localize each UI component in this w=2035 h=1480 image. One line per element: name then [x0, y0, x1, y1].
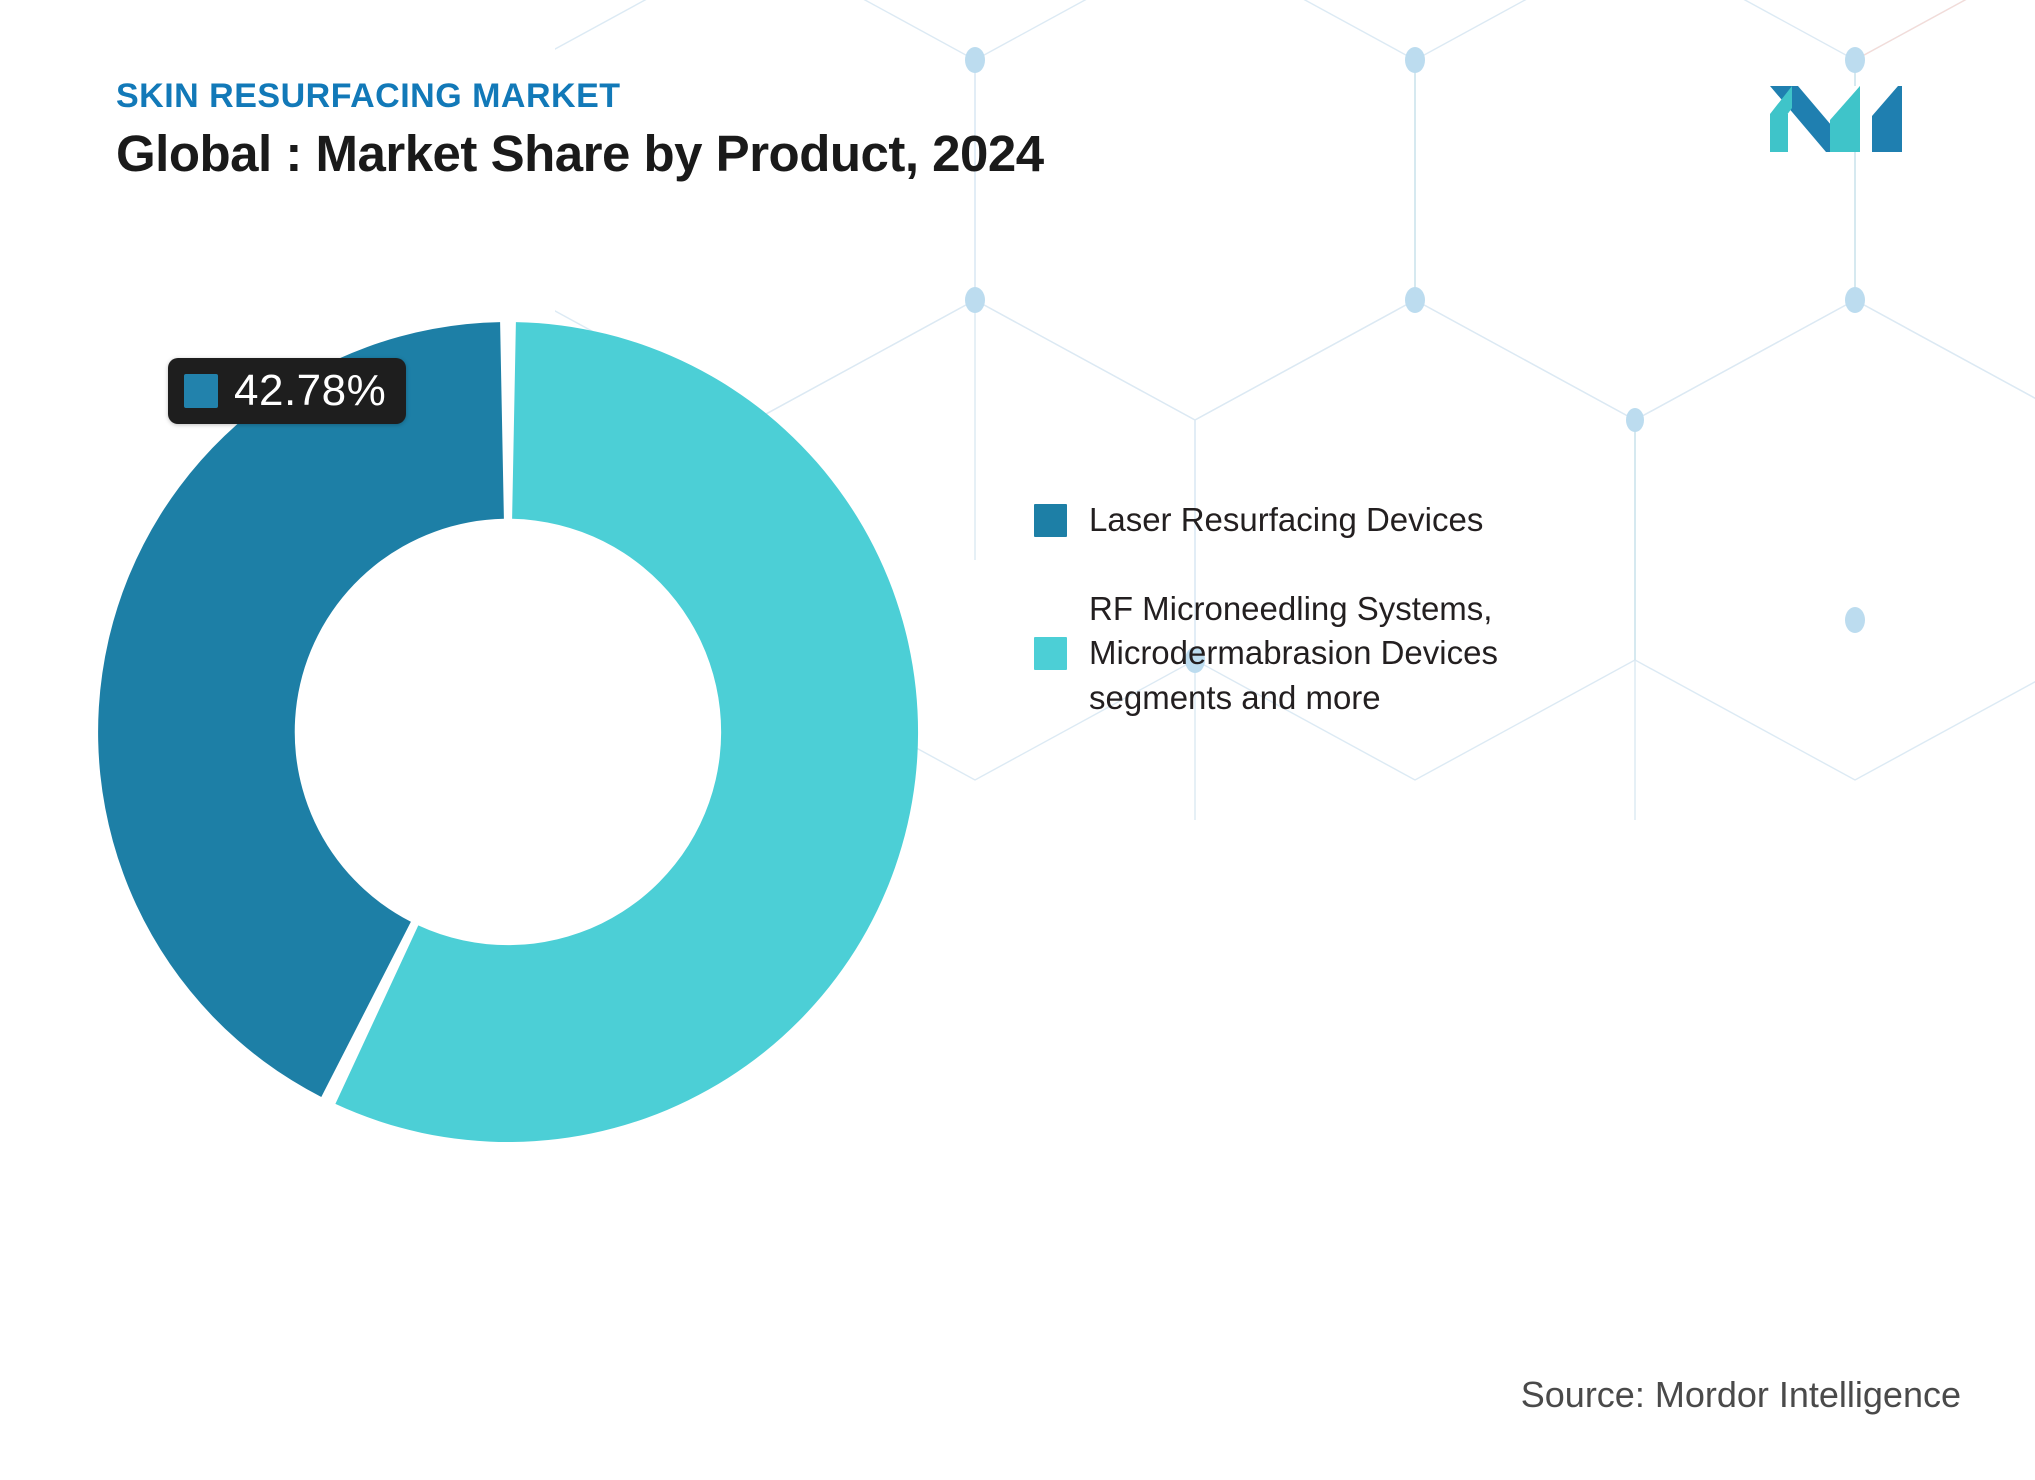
chart-legend: Laser Resurfacing Devices RF Microneedli… — [1034, 498, 1794, 720]
tooltip-value-text: 42.78% — [234, 369, 386, 413]
legend-swatch-rf-microneedling-systems — [1034, 637, 1067, 670]
legend-item-rf-microneedling-systems[interactable]: RF Microneedling Systems, Microdermabras… — [1034, 587, 1794, 721]
legend-label-laser-resurfacing-devices: Laser Resurfacing Devices — [1089, 498, 1483, 543]
donut-chart-svg — [78, 302, 938, 1162]
source-attribution: Source: Mordor Intelligence — [1521, 1374, 1961, 1416]
page-title: Global : Market Share by Product, 2024 — [116, 125, 1416, 184]
data-value-tooltip: 42.78% — [168, 358, 406, 424]
eyebrow-title: SKIN RESURFACING MARKET — [116, 76, 1416, 117]
mordor-intelligence-logo — [1768, 68, 1910, 152]
legend-swatch-laser-resurfacing-devices — [1034, 504, 1067, 537]
header-block: SKIN RESURFACING MARKET Global : Market … — [116, 76, 1416, 183]
legend-item-laser-resurfacing-devices[interactable]: Laser Resurfacing Devices — [1034, 498, 1794, 543]
infographic-canvas: SKIN RESURFACING MARKET Global : Market … — [0, 0, 2035, 1480]
legend-label-rf-microneedling-systems: RF Microneedling Systems, Microdermabras… — [1089, 587, 1498, 721]
donut-chart — [78, 302, 938, 1162]
tooltip-color-swatch — [184, 374, 218, 408]
